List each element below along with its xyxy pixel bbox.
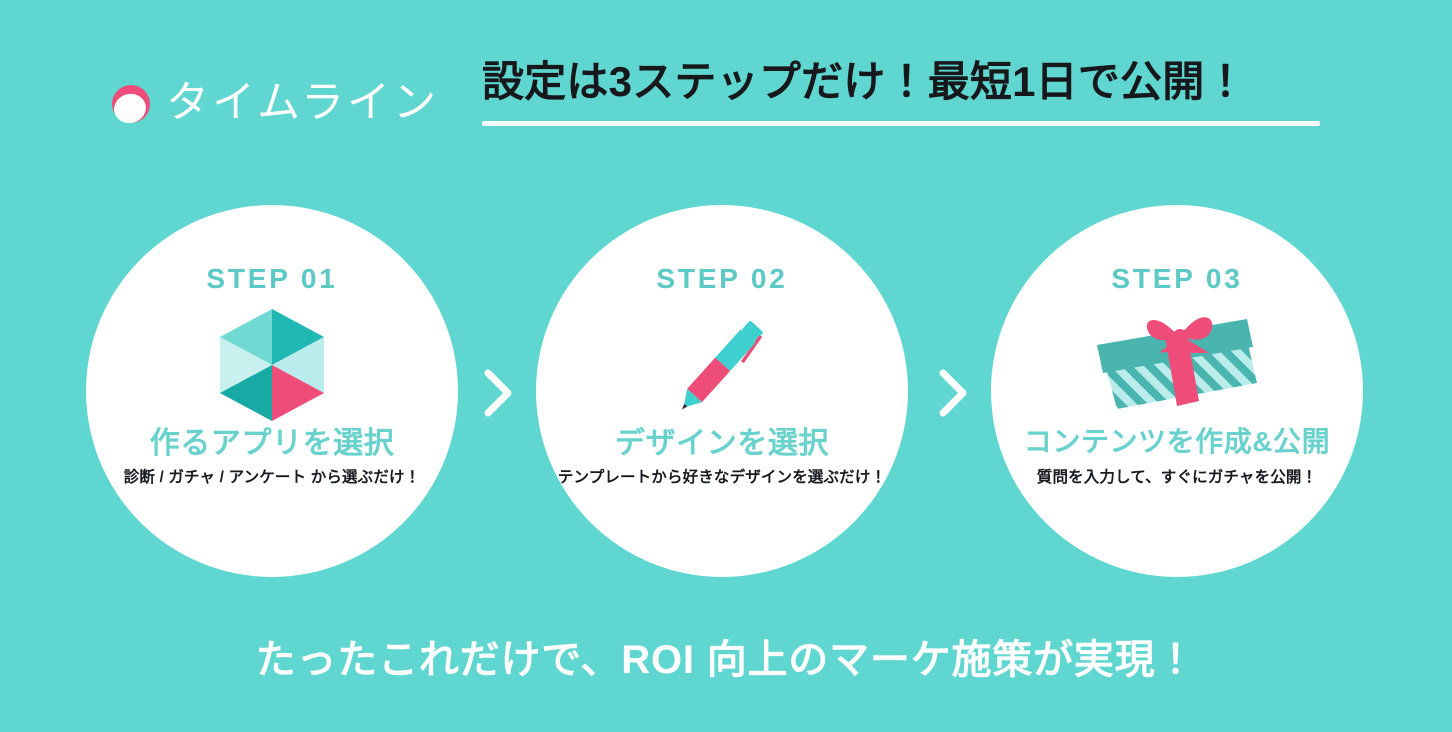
headline-underline [482, 121, 1320, 126]
footer-tagline: たったこれだけで、ROI 向上のマーケ施策が実現！ [0, 636, 1452, 684]
gift-box-icon [1087, 309, 1267, 421]
steps-row: STEP 01 作るアプリを選択 診断 / ガチャ / アンケート から選ぶだけ… [0, 205, 1452, 577]
step-artwork [991, 305, 1363, 425]
step-card-01[interactable]: STEP 01 作るアプリを選択 診断 / ガチャ / アンケート から選ぶだけ… [86, 205, 458, 577]
brand: タイムライン [112, 62, 439, 142]
step-subtitle: 質問を入力して、すぐにガチャを公開！ [991, 469, 1363, 488]
step-title: 作るアプリを選択 [86, 427, 458, 460]
brand-title: タイムライン [166, 82, 439, 125]
step-subtitle: 診断 / ガチャ / アンケート から選ぶだけ！ [86, 469, 458, 488]
step-title: デザインを選択 [536, 427, 908, 460]
step-title: コンテンツを作成&公開 [991, 427, 1363, 458]
hexagon-prism-icon [220, 309, 324, 421]
step-artwork [536, 305, 908, 425]
timeline-steps-section: タイムライン 設定は3ステップだけ！最短1日で公開！ STEP 01 作る [0, 0, 1452, 732]
pink-crescent-dot-icon [112, 85, 150, 123]
section-header: タイムライン 設定は3ステップだけ！最短1日で公開！ [0, 62, 1452, 152]
step-card-02[interactable]: STEP 02 デザインを選択 テンプレートから好きなデザインを選ぶだけ！ [536, 205, 908, 577]
step-label: STEP 03 [991, 265, 1363, 293]
step-separator-2 [933, 365, 973, 421]
ballpoint-pen-icon [667, 309, 777, 421]
step-label: STEP 01 [86, 265, 458, 293]
headline-block: 設定は3ステップだけ！最短1日で公開！ [482, 56, 1322, 126]
step-separator-1 [478, 365, 518, 421]
step-card-03[interactable]: STEP 03 [991, 205, 1363, 577]
step-label: STEP 02 [536, 265, 908, 293]
step-subtitle: テンプレートから好きなデザインを選ぶだけ！ [536, 469, 908, 488]
chevron-right-icon [933, 365, 973, 421]
chevron-right-icon [478, 365, 518, 421]
step-artwork [86, 305, 458, 425]
page-headline: 設定は3ステップだけ！最短1日で公開！ [482, 56, 1322, 109]
